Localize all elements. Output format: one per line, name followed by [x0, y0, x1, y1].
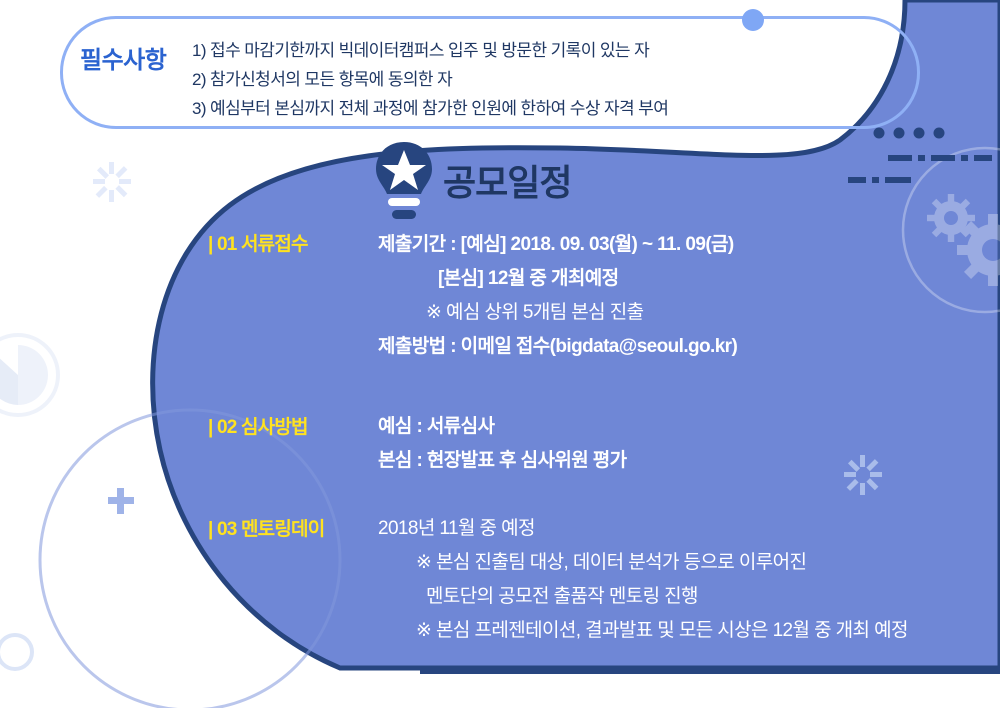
section-03-line: 멘토단의 공모전 출품작 멘토링 진행 — [378, 580, 908, 614]
sparkle-icon-left — [93, 162, 131, 202]
circle-outline-icon — [0, 635, 32, 669]
requirement-item: 1) 접수 마감기한까지 빅데이터캠퍼스 입주 및 방문한 기록이 있는 자 — [192, 36, 832, 65]
requirement-item: 3) 예심부터 본심까지 전체 과정에 참가한 인원에 한하여 수상 자격 부여 — [192, 94, 832, 123]
panel-bottom-edge — [420, 668, 1000, 674]
requirement-item: 2) 참가신청서의 모든 항목에 동의한 자 — [192, 65, 832, 94]
section-body-01: 제출기간 : [예심] 2018. 09. 03(월) ~ 11. 09(금) … — [378, 228, 737, 364]
section-01-line: ※ 예심 상위 5개팀 본심 진출 — [378, 296, 737, 330]
section-01-line: 제출방법 : 이메일 접수(bigdata@seoul.go.kr) — [378, 330, 737, 364]
section-02-line: 예심 : 서류심사 — [378, 410, 627, 444]
section-label-01: | 01 서류접수 — [208, 229, 308, 256]
bubble-endpoint-dot-icon — [742, 9, 764, 31]
section-01-line: 제출기간 : [예심] 2018. 09. 03(월) ~ 11. 09(금) — [378, 228, 737, 262]
poster-canvas: 필수사항 1) 접수 마감기한까지 빅데이터캠퍼스 입주 및 방문한 기록이 있… — [0, 0, 1000, 708]
section-label-03: | 03 멘토링데이 — [208, 514, 324, 541]
requirements-list: 1) 접수 마감기한까지 빅데이터캠퍼스 입주 및 방문한 기록이 있는 자 2… — [192, 36, 832, 123]
section-03-line: ※ 본심 진출팀 대상, 데이터 분석가 등으로 이루어진 — [378, 546, 908, 580]
section-02-line: 본심 : 현장발표 후 심사위원 평가 — [378, 444, 627, 478]
requirements-label: 필수사항 — [80, 40, 180, 75]
pie-chart-icon — [0, 335, 58, 415]
section-body-03: 2018년 11월 중 예정 ※ 본심 진출팀 대상, 데이터 분석가 등으로 … — [378, 512, 908, 648]
section-body-02: 예심 : 서류심사 본심 : 현장발표 후 심사위원 평가 — [378, 410, 627, 478]
dash-dot-line-icon — [888, 155, 992, 161]
lightbulb-star-icon — [373, 140, 435, 222]
section-03-line: ※ 본심 프레젠테이션, 결과발표 및 모든 시상은 12월 중 개최 예정 — [378, 614, 908, 648]
section-01-line: [본심] 12월 중 개최예정 — [378, 262, 737, 296]
section-label-02: | 02 심사방법 — [208, 412, 308, 439]
plus-icon — [108, 488, 134, 514]
page-title: 공모일정 — [443, 154, 571, 206]
section-03-line: 2018년 11월 중 예정 — [378, 512, 908, 546]
